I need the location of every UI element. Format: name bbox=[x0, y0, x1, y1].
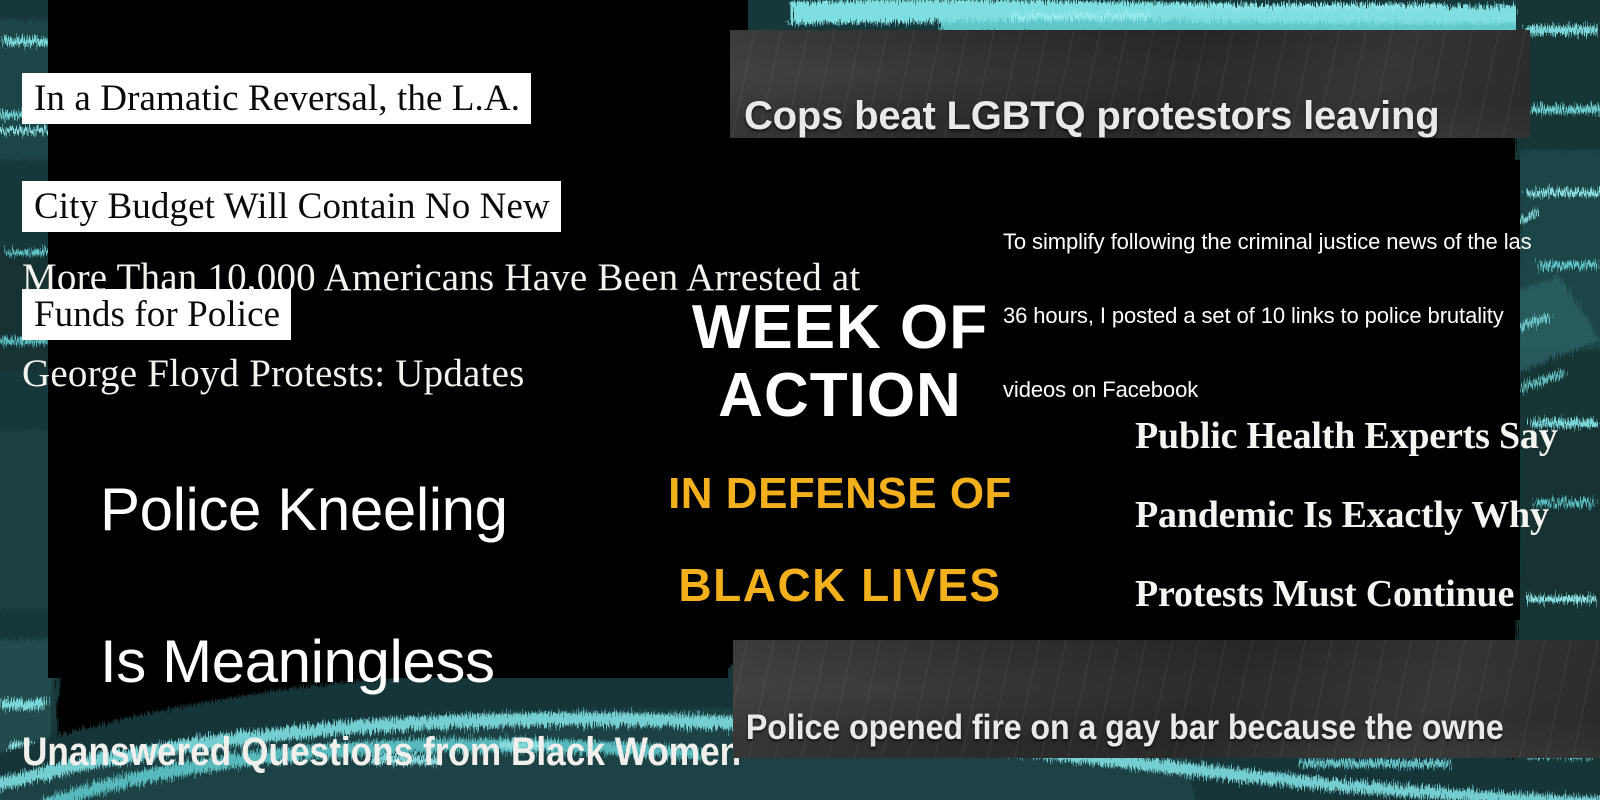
headline-unanswered-questions: Unanswered Questions from Black Women Pr… bbox=[22, 638, 741, 800]
headline-unanswered-line-1: Unanswered Questions from Black Women bbox=[22, 730, 741, 774]
poster-line-action: ACTION bbox=[600, 364, 1080, 428]
headline-cops-stonewall-text: Cops beat LGBTQ protestors leaving demon… bbox=[730, 30, 1530, 138]
headline-cops-stonewall-line-1: Cops beat LGBTQ protestors leaving bbox=[744, 94, 1440, 138]
headline-panel-cops-stonewall: Cops beat LGBTQ protestors leaving demon… bbox=[730, 30, 1530, 138]
headline-public-health-line-3: Protests Must Continue bbox=[1135, 575, 1558, 615]
headline-public-health: Public Health Experts Say Pandemic Is Ex… bbox=[1135, 378, 1558, 654]
blurb-facebook-line-1: To simplify following the criminal justi… bbox=[1003, 229, 1532, 254]
headline-gay-bar-text: Police opened fire on a gay bar because … bbox=[733, 640, 1531, 758]
headline-panel-gay-bar: Police opened fire on a gay bar because … bbox=[733, 640, 1600, 758]
poster-line-in-defense-of: IN DEFENSE OF bbox=[600, 470, 1080, 518]
headline-public-health-line-2: Pandemic Is Exactly Why bbox=[1135, 496, 1558, 536]
blurb-facebook-links: To simplify following the criminal justi… bbox=[1003, 186, 1573, 408]
headline-la-budget-line-1: In a Dramatic Reversal, the L.A. bbox=[22, 73, 531, 124]
collage-canvas: In a Dramatic Reversal, the L.A. City Bu… bbox=[0, 0, 1600, 800]
headline-arrested-line-2: George Floyd Protests: Updates bbox=[22, 352, 525, 395]
poster-line-week: WEEK OF bbox=[600, 296, 1080, 360]
headline-gay-bar-line-1: Police opened fire on a gay bar because … bbox=[746, 708, 1504, 747]
poster-week-of-action: WEEK OF ACTION IN DEFENSE OF BLACK LIVES bbox=[600, 296, 1080, 610]
headline-public-health-line-1: Public Health Experts Say bbox=[1135, 417, 1558, 457]
headline-police-kneeling-line-1: Police Kneeling bbox=[100, 476, 508, 543]
poster-line-black-lives: BLACK LIVES bbox=[600, 560, 1080, 610]
